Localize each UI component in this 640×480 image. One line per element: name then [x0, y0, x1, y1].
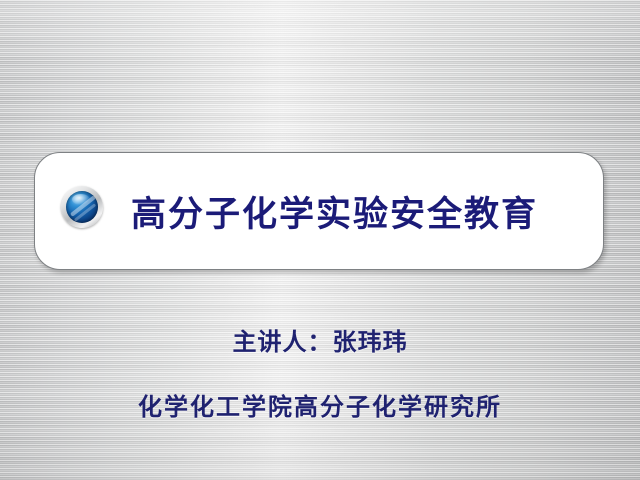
affiliation-line: 化学化工学院高分子化学研究所: [0, 387, 640, 422]
slide-canvas: 高分子化学实验安全教育 主讲人：张玮玮 化学化工学院高分子化学研究所: [0, 0, 640, 480]
orb-gloss: [72, 194, 90, 205]
orb-core: [66, 191, 98, 223]
slide-title: 高分子化学实验安全教育: [131, 186, 538, 237]
title-plaque[interactable]: 高分子化学实验安全教育: [34, 152, 604, 270]
blue-orb-icon: [61, 186, 103, 228]
presenter-line: 主讲人：张玮玮: [0, 322, 640, 357]
